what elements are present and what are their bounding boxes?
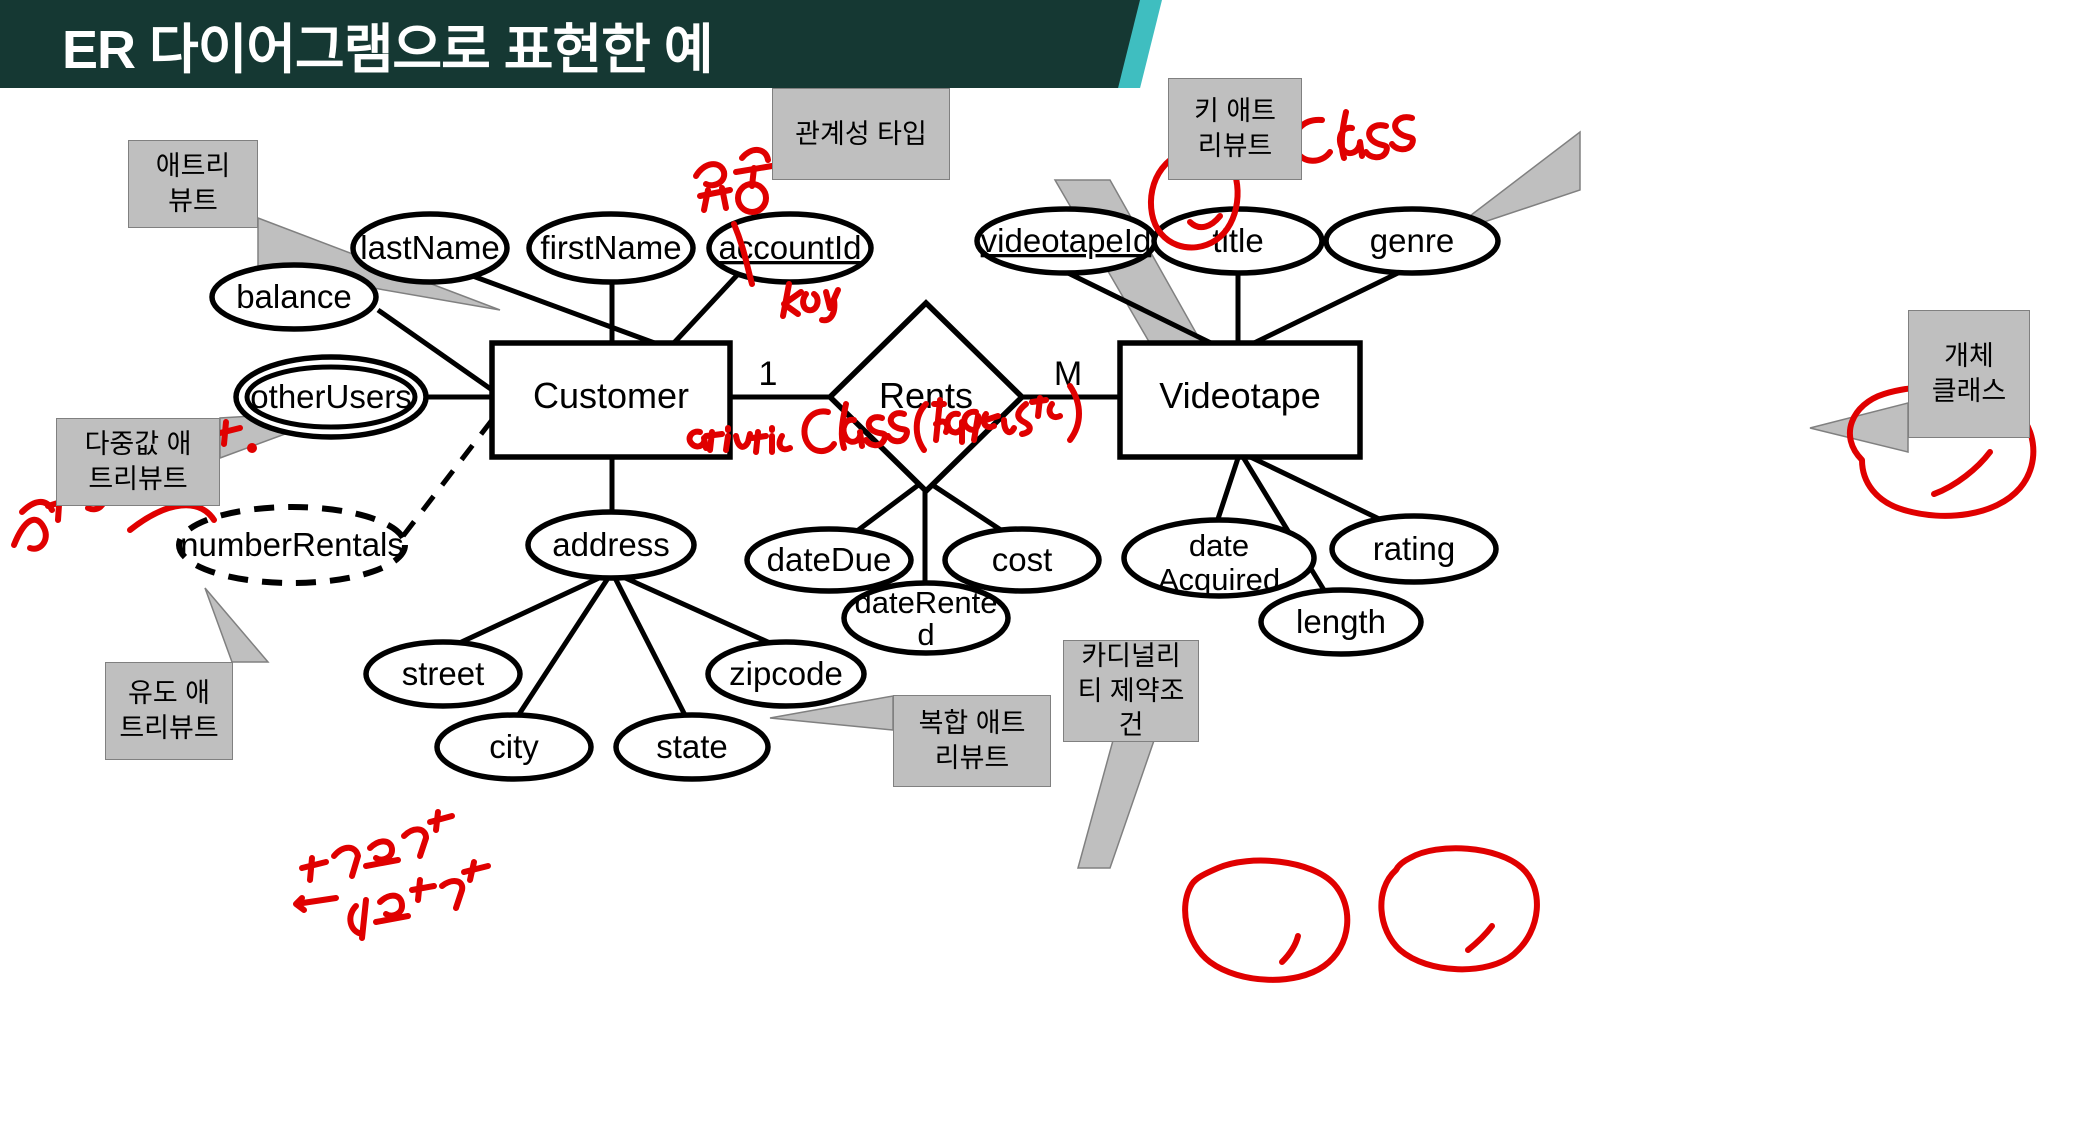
- edge-genre-videotape: [1250, 272, 1400, 345]
- er-diagram-canvas: .edge { stroke:#000; stroke-width:5; fil…: [0, 0, 2078, 1127]
- annotation-composite-circle: [1185, 861, 1347, 980]
- callout-relationship-type-line1: 관계성 타입: [795, 117, 927, 152]
- cardinality-left: 1: [759, 355, 778, 393]
- callout-cardinality-line1: 카디널리: [1081, 639, 1180, 674]
- entity-customer-label: Customer: [533, 375, 689, 416]
- attribute-dateacquired-label-line2: Acquired: [1158, 562, 1280, 597]
- callout-cardinality-constraint[interactable]: 카디널리 티 제약조 건: [1063, 640, 1199, 742]
- entity-videotape-label: Videotape: [1159, 375, 1321, 416]
- attribute-balance-label: balance: [236, 278, 352, 315]
- attribute-genre-label: genre: [1370, 222, 1454, 259]
- callout-cardinality-line2: 티 제약조: [1078, 674, 1185, 709]
- callout-cardinality-line3: 건: [1119, 708, 1144, 743]
- callout-derived-line1: 유도 애: [128, 676, 210, 711]
- attribute-rating-label: rating: [1373, 530, 1456, 567]
- edge-address-state: [612, 572, 690, 725]
- attribute-zipcode-label: zipcode: [729, 655, 843, 692]
- callout-tail-derived: [205, 588, 268, 662]
- attribute-datedue-label: dateDue: [767, 541, 892, 578]
- attribute-lastname-label: lastName: [360, 229, 499, 266]
- annotation-cardinality-circle: [1381, 848, 1537, 969]
- attribute-otherusers-label: otherUsers: [250, 378, 411, 415]
- edge-numberrentals-customer: [400, 420, 492, 540]
- attribute-state-label: state: [656, 728, 728, 765]
- relationship-rents-label: Rents: [879, 375, 973, 416]
- callout-relationship-type[interactable]: 관계성 타입: [772, 88, 950, 180]
- callout-entity-class[interactable]: 개체 클래스: [1908, 310, 2030, 438]
- attribute-city-label: city: [489, 728, 539, 765]
- annotation-derived-ink: [296, 812, 488, 938]
- attribute-firstname-label: firstName: [540, 229, 681, 266]
- callout-key-attribute[interactable]: 키 애트 리뷰트: [1168, 78, 1302, 180]
- callout-composite-attribute[interactable]: 복합 애트 리뷰트: [893, 695, 1051, 787]
- callout-multivalued-attribute[interactable]: 다중값 애 트리뷰트: [56, 418, 220, 506]
- callout-derived-attribute[interactable]: 유도 애 트리뷰트: [105, 662, 233, 760]
- callout-attribute-line2: 뷰트: [168, 184, 218, 219]
- callout-derived-line2: 트리뷰트: [119, 711, 218, 746]
- attribute-numberrentals-label: numberRentals: [180, 526, 404, 563]
- callout-key-attribute-line2: 리뷰트: [1198, 129, 1273, 164]
- annotation-key-ink: [783, 284, 838, 320]
- edge-accountid-customer: [672, 272, 740, 345]
- callout-entity-class-line1: 개체: [1944, 339, 1994, 374]
- callout-attribute-line1: 애트리: [156, 149, 231, 184]
- attribute-address-label: address: [552, 526, 669, 563]
- attribute-cost-label: cost: [992, 541, 1053, 578]
- callout-attribute[interactable]: 애트리 뷰트: [128, 140, 258, 228]
- attribute-length-label: length: [1296, 603, 1386, 640]
- attribute-videotapeid-label: videotapeId: [981, 222, 1152, 259]
- callout-key-attribute-line1: 키 애트: [1194, 94, 1276, 129]
- edge-videotape-dateacq: [1215, 452, 1240, 528]
- callout-multivalued-line2: 트리뷰트: [88, 462, 187, 497]
- attribute-dateacquired-label-line1: date: [1189, 528, 1249, 563]
- edge-address-zipcode: [612, 572, 790, 652]
- attribute-daterented-label-line1: dateRente: [854, 585, 997, 620]
- callout-composite-line2: 리뷰트: [935, 741, 1010, 776]
- callout-entity-class-line2: 클래스: [1932, 374, 2007, 409]
- attribute-street-label: street: [402, 655, 485, 692]
- callout-composite-line1: 복합 애트: [919, 706, 1026, 741]
- attribute-daterented-label-line2: d: [917, 617, 934, 652]
- callout-multivalued-line1: 다중값 애: [85, 427, 192, 462]
